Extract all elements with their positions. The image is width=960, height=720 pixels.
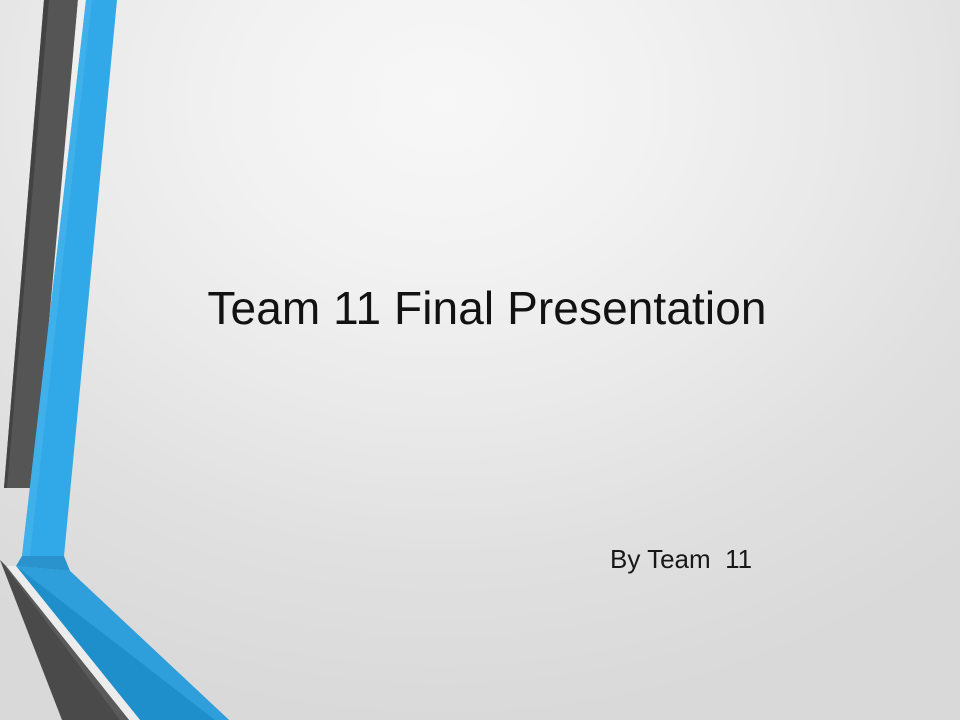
dark-band-lower-highlight [0,560,129,720]
blue-band-lower [16,566,229,720]
page-title: Team 11 Final Presentation [193,281,766,335]
dark-band-upper [4,0,78,488]
blue-band-fold [16,556,70,571]
blue-band-upper-highlight [22,0,92,556]
slide-title-placeholder: Team 11 Final Presentation [0,281,960,335]
dark-band-lower [0,560,129,720]
blue-band-upper [22,0,117,556]
presentation-slide: Team 11 Final Presentation By Team 11 [0,0,960,720]
band-gap-upper [33,0,86,520]
dark-band-upper-shade [4,0,49,488]
slide-subtitle: By Team 11 [610,544,752,575]
blue-band-lower-highlight [16,566,229,720]
banded-chevron-decoration [0,0,960,720]
slide-subtitle-placeholder: By Team 11 [610,544,910,575]
band-gap-lower [6,566,140,720]
